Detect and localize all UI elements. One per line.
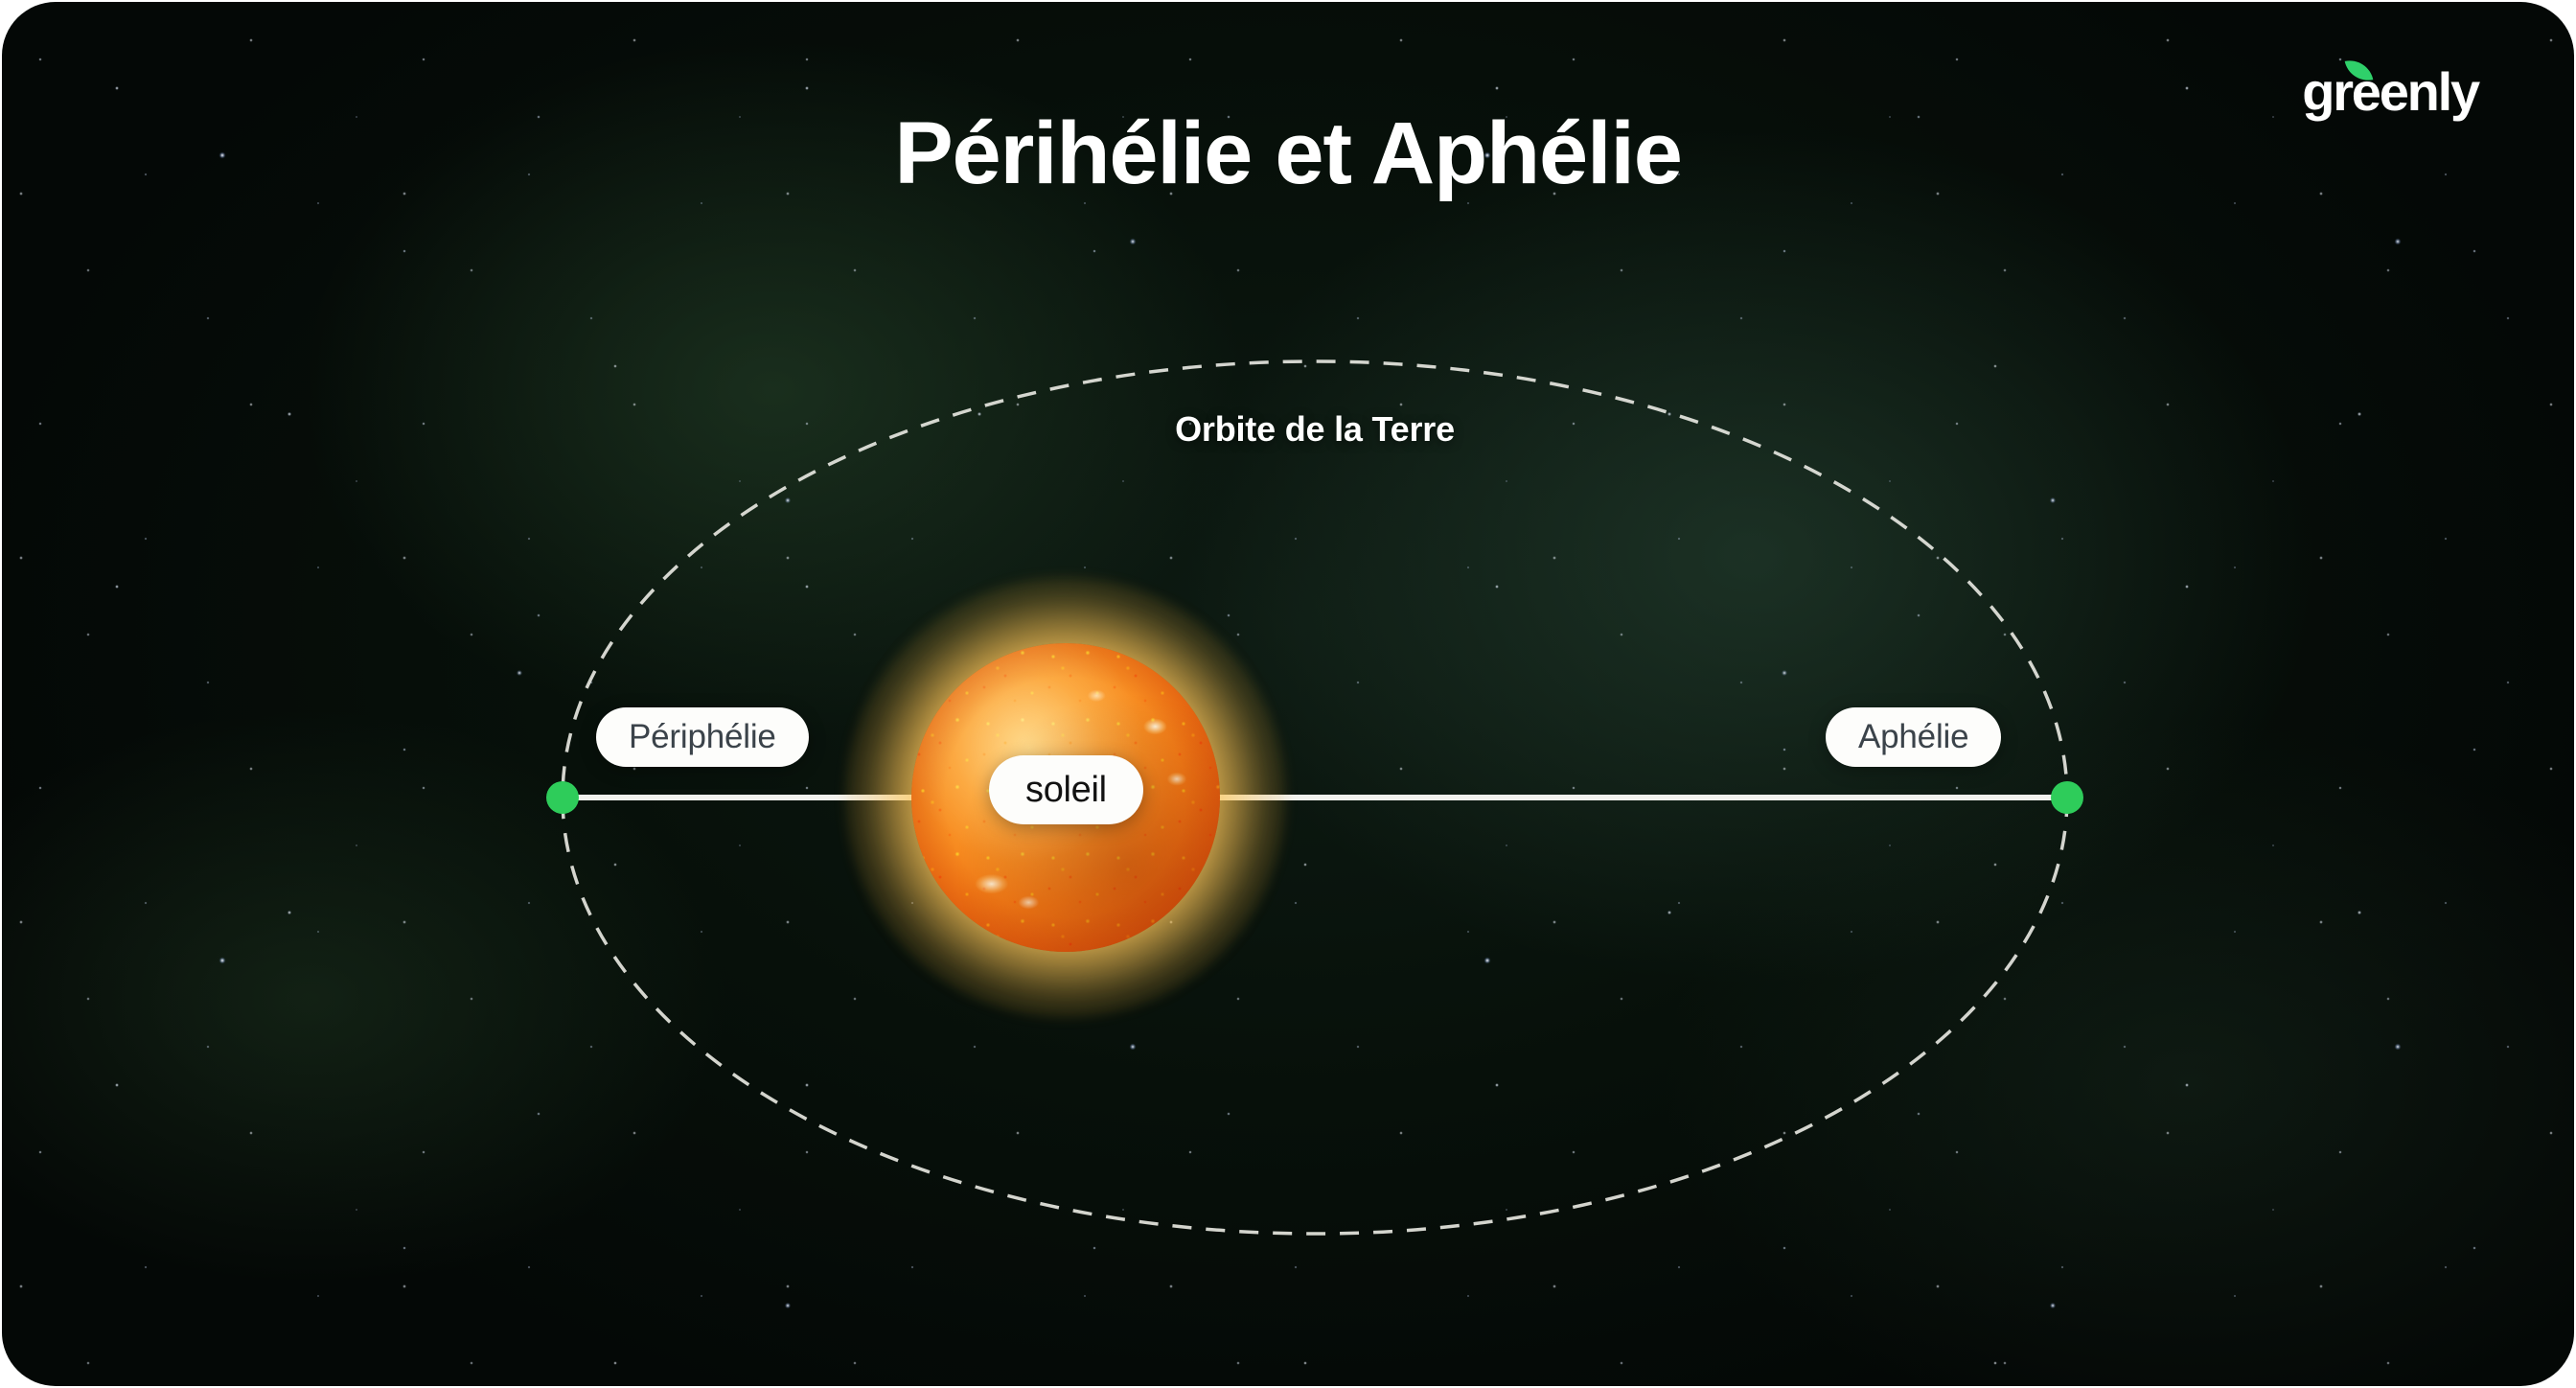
- orbit-label: Orbite de la Terre: [1175, 409, 1455, 450]
- aphelion-green-dot-icon: [2051, 781, 2083, 814]
- orbit-diagram: Orbite de la Terre Périphélie soleil Aph…: [2, 2, 2574, 1386]
- orbit-svg: [2, 2, 2574, 1386]
- perihelion-label-pill: Périphélie: [596, 707, 809, 767]
- sun-label-text: soleil: [1025, 770, 1107, 811]
- aphelion-label-pill: Aphélie: [1826, 707, 2001, 767]
- aphelion-label-text: Aphélie: [1858, 718, 1968, 756]
- perihelion-label-text: Périphélie: [629, 718, 776, 756]
- perihelion-green-dot-icon: [546, 781, 579, 814]
- sun-label-pill: soleil: [989, 755, 1143, 824]
- space-background-panel: Périhélie et Aphélie greenly Orbite de l…: [2, 2, 2574, 1386]
- infographic-card: Périhélie et Aphélie greenly Orbite de l…: [0, 0, 2576, 1388]
